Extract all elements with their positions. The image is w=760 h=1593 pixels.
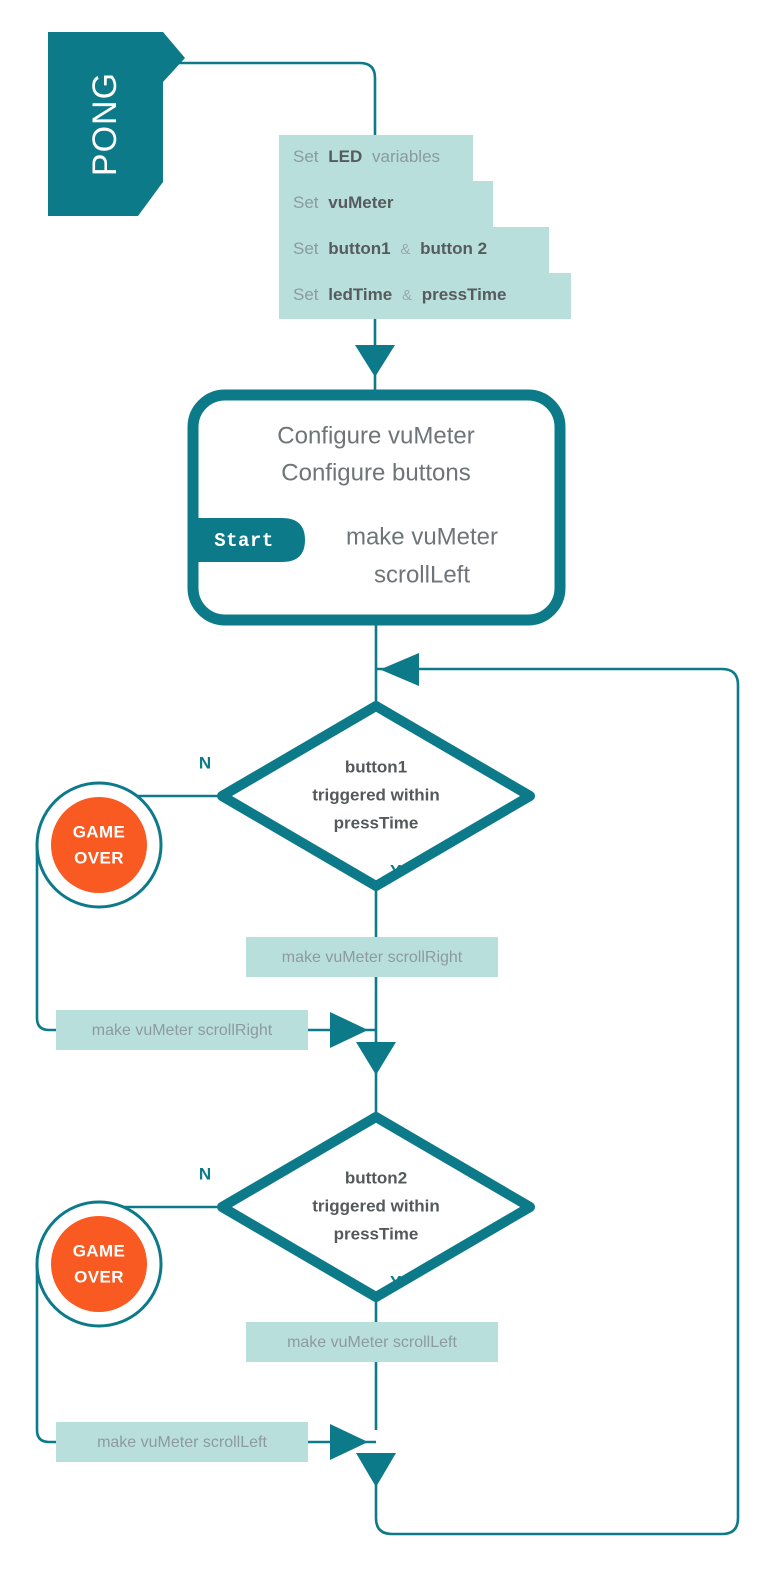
- process-no-2-label: make vuMeter scrollLeft: [97, 1434, 267, 1451]
- process-yes-1-label: make vuMeter scrollRight: [282, 949, 463, 966]
- decision-button1-line-1: triggered within: [312, 785, 440, 804]
- setup-row-2-lead: Set: [293, 239, 319, 258]
- game-over-2-disc: [51, 1216, 147, 1312]
- decision-button2-line-0: button2: [345, 1168, 407, 1187]
- game-over-2-line-0: GAME: [73, 1241, 126, 1260]
- setup-row-0-strong: LED: [328, 147, 362, 166]
- setup-row-2-amp: &: [400, 241, 410, 258]
- arrowhead-setup-to-start: [355, 345, 395, 377]
- setup-row-0: Set LED variables: [293, 147, 440, 166]
- game-over-2: GAME OVER: [37, 1202, 161, 1326]
- start-line-1: Configure buttons: [281, 459, 470, 486]
- setup-row-1-lead: Set: [293, 193, 319, 212]
- arrowhead-loop-back: [380, 653, 419, 686]
- setup-row-0-lead: Set: [293, 147, 319, 166]
- decision-button1: button1 triggered within pressTime: [222, 706, 530, 886]
- setup-row-1: Set vuMeter: [293, 193, 394, 212]
- process-no-2: make vuMeter scrollLeft: [56, 1422, 308, 1462]
- start-line-2: make vuMeter: [346, 523, 498, 550]
- branch-label-no-2: N: [199, 1164, 211, 1183]
- setup-row-1-strong: vuMeter: [328, 193, 394, 212]
- process-yes-1: make vuMeter scrollRight: [246, 937, 498, 977]
- setup-block-group: Set LED variables Set vuMeter Set button…: [279, 135, 571, 319]
- connector-banner-to-setup: [178, 63, 375, 135]
- branch-label-no-1: N: [199, 753, 211, 772]
- process-no-1-label: make vuMeter scrollRight: [92, 1022, 273, 1039]
- flowchart-canvas: PONG Set LED variables Set vuMeter Set b…: [0, 0, 760, 1593]
- game-over-1-line-0: GAME: [73, 822, 126, 841]
- start-pill-label: Start: [214, 530, 274, 552]
- game-over-2-line-1: OVER: [74, 1267, 124, 1286]
- decision-button2-line-2: pressTime: [334, 1224, 419, 1243]
- setup-row-3-strong2: pressTime: [422, 285, 507, 304]
- arrowhead-loop-entry: [356, 1453, 396, 1487]
- start-line-0: Configure vuMeter: [277, 422, 474, 449]
- game-over-1-line-1: OVER: [74, 848, 124, 867]
- arrowhead-spine-to-decision2: [356, 1042, 396, 1075]
- branch-label-yes-2: Y: [390, 1272, 402, 1291]
- setup-row-3-strong: ledTime: [328, 285, 392, 304]
- start-block: Configure vuMeter Configure buttons make…: [190, 395, 560, 620]
- start-line-3: scrollLeft: [374, 561, 470, 588]
- process-yes-2-label: make vuMeter scrollLeft: [287, 1334, 457, 1351]
- banner-label: PONG: [86, 72, 124, 176]
- decision-button1-line-0: button1: [345, 757, 407, 776]
- decision-button2-line-1: triggered within: [312, 1196, 440, 1215]
- process-yes-2: make vuMeter scrollLeft: [246, 1322, 498, 1362]
- setup-row-3-lead: Set: [293, 285, 319, 304]
- decision-button2: button2 triggered within pressTime: [222, 1117, 530, 1297]
- setup-row-3-amp: &: [402, 287, 412, 304]
- setup-row-2-strong2: button 2: [420, 239, 487, 258]
- banner-pong: PONG: [48, 32, 185, 216]
- process-no-1: make vuMeter scrollRight: [56, 1010, 308, 1050]
- game-over-1-disc: [51, 797, 147, 893]
- setup-row-2-strong: button1: [328, 239, 390, 258]
- game-over-1: GAME OVER: [37, 783, 161, 907]
- setup-row-2: Set button1 & button 2: [293, 239, 487, 258]
- setup-row-0-trail: variables: [372, 147, 440, 166]
- decision-button1-line-2: pressTime: [334, 813, 419, 832]
- branch-label-yes-1: Y: [390, 861, 402, 880]
